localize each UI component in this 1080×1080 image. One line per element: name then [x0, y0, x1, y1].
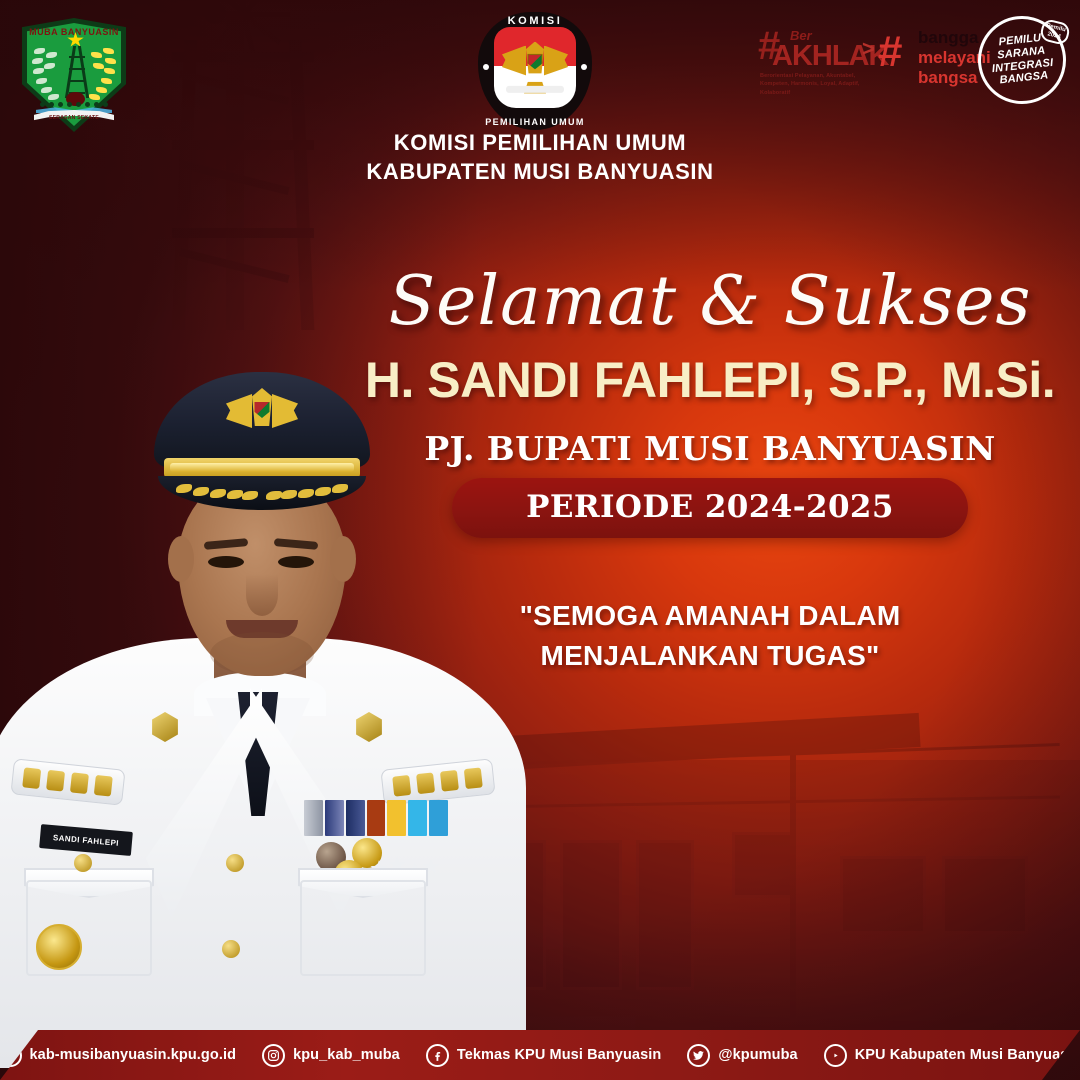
- campaign-marks: # Ber AKHLAK > Berorientasi Pelayanan, A…: [752, 8, 1072, 108]
- chevron-right-icon: >: [862, 36, 875, 62]
- footer-label-facebook: Tekmas KPU Musi Banyuasin: [457, 1047, 662, 1063]
- quote-block: "SEMOGA AMANAH DALAM MENJALANKAN TUGAS": [360, 596, 1060, 676]
- chain-links: [40, 102, 108, 108]
- chest-pocket-right: [300, 880, 426, 976]
- gold-service-badge: [36, 924, 82, 970]
- footer-item-instagram[interactable]: kpu_kab_muba: [249, 1044, 413, 1067]
- quote-line-1: "SEMOGA AMANAH DALAM: [520, 600, 901, 631]
- eye-right: [278, 556, 314, 568]
- cap-garuda-emblem-icon: [226, 386, 298, 448]
- emblem-motto-text: SERASAN SEKATE: [22, 115, 126, 121]
- pemilu-integrasi-stamp: PEMILU SARANA INTEGRASI BANGSA Pemilu 20…: [974, 12, 1070, 108]
- footer-item-facebook[interactable]: Tekmas KPU Musi Banyuasin: [413, 1044, 675, 1067]
- institution-line-1: KOMISI PEMILIHAN UMUM: [394, 130, 686, 155]
- berakhlak-logo: # Ber AKHLAK > Berorientasi Pelayanan, A…: [758, 20, 878, 90]
- footer-social-bar: kab-musibanyuasin.kpu.go.id kpu_kab_muba…: [0, 1030, 1080, 1080]
- header: MUBA BANYUASIN: [0, 0, 1080, 200]
- institution-title: KOMISI PEMILIHAN UMUM KABUPATEN MUSI BAN…: [0, 128, 1080, 187]
- kpu-logo-top-text: KOMISI: [478, 15, 592, 27]
- musi-banyuasin-regency-emblem: MUBA BANYUASIN: [22, 18, 126, 132]
- chin: [210, 632, 314, 676]
- visor-leaf-embroidery-right: [264, 482, 348, 504]
- twitter-icon: [687, 1044, 710, 1067]
- berakhlak-subtitle: Berorientasi Pelayanan, Akuntabel, Kompe…: [760, 72, 882, 97]
- cotton-wreath: [32, 46, 64, 102]
- emblem-arc-text: MUBA BANYUASIN: [22, 27, 126, 37]
- honoree-name: H. SANDI FAHLEPI, S.P., M.Si.: [360, 354, 1060, 407]
- ear-right: [330, 536, 356, 582]
- rice-wreath: [84, 46, 116, 102]
- kpu-logo-bottom-text: PEMILIHAN UMUM: [478, 117, 592, 127]
- service-ribbon-bars: [304, 800, 448, 836]
- eye-left: [208, 556, 244, 568]
- instagram-icon: [262, 1044, 285, 1067]
- uniform-button-2: [222, 940, 240, 958]
- footer-label-youtube: KPU Kabupaten Musi Banyuasin: [855, 1047, 1080, 1063]
- uniform-button-3: [74, 854, 92, 872]
- honoree-role: PJ. BUPATI MUSI BANYUASIN: [360, 429, 1060, 468]
- period-badge: PERIODE 2024-2025: [452, 478, 968, 538]
- hash-symbol-icon: #: [878, 30, 902, 74]
- nose: [246, 574, 278, 616]
- uniform-button-1: [226, 854, 244, 872]
- oil-derrick-icon: [69, 46, 85, 98]
- footer-item-twitter[interactable]: @kpumuba: [674, 1044, 810, 1067]
- bangga-line-1: bangga: [918, 28, 978, 49]
- greeting-script: Selamat & Sukses: [360, 268, 1060, 336]
- nameplate-text: SANDI FAHLEPI: [53, 833, 120, 848]
- peaked-cap: [154, 372, 370, 520]
- footer-label-instagram: kpu_kab_muba: [293, 1047, 400, 1063]
- footer-item-website[interactable]: kab-musibanyuasin.kpu.go.id: [0, 1044, 249, 1067]
- youtube-icon: [824, 1044, 847, 1067]
- main-copy: Selamat & Sukses H. SANDI FAHLEPI, S.P.,…: [360, 268, 1060, 676]
- footer-label-twitter: @kpumuba: [718, 1047, 797, 1063]
- garuda-icon: [502, 39, 568, 93]
- kpu-logo: KOMISI PEMILIHAN UMUM: [478, 12, 592, 130]
- ear-left: [168, 536, 194, 582]
- quote-line-2: MENJALANKAN TUGAS": [360, 636, 1060, 676]
- facebook-icon: [426, 1044, 449, 1067]
- institution-line-2: KABUPATEN MUSI BANYUASIN: [0, 157, 1080, 186]
- footer-label-website: kab-musibanyuasin.kpu.go.id: [30, 1047, 237, 1063]
- bangga-line-3: bangsa: [918, 68, 978, 89]
- footer-item-youtube[interactable]: KPU Kabupaten Musi Banyuasin: [811, 1044, 1080, 1067]
- poster-canvas: MUBA BANYUASIN: [0, 0, 1080, 1080]
- visor-leaf-embroidery-left: [176, 482, 260, 504]
